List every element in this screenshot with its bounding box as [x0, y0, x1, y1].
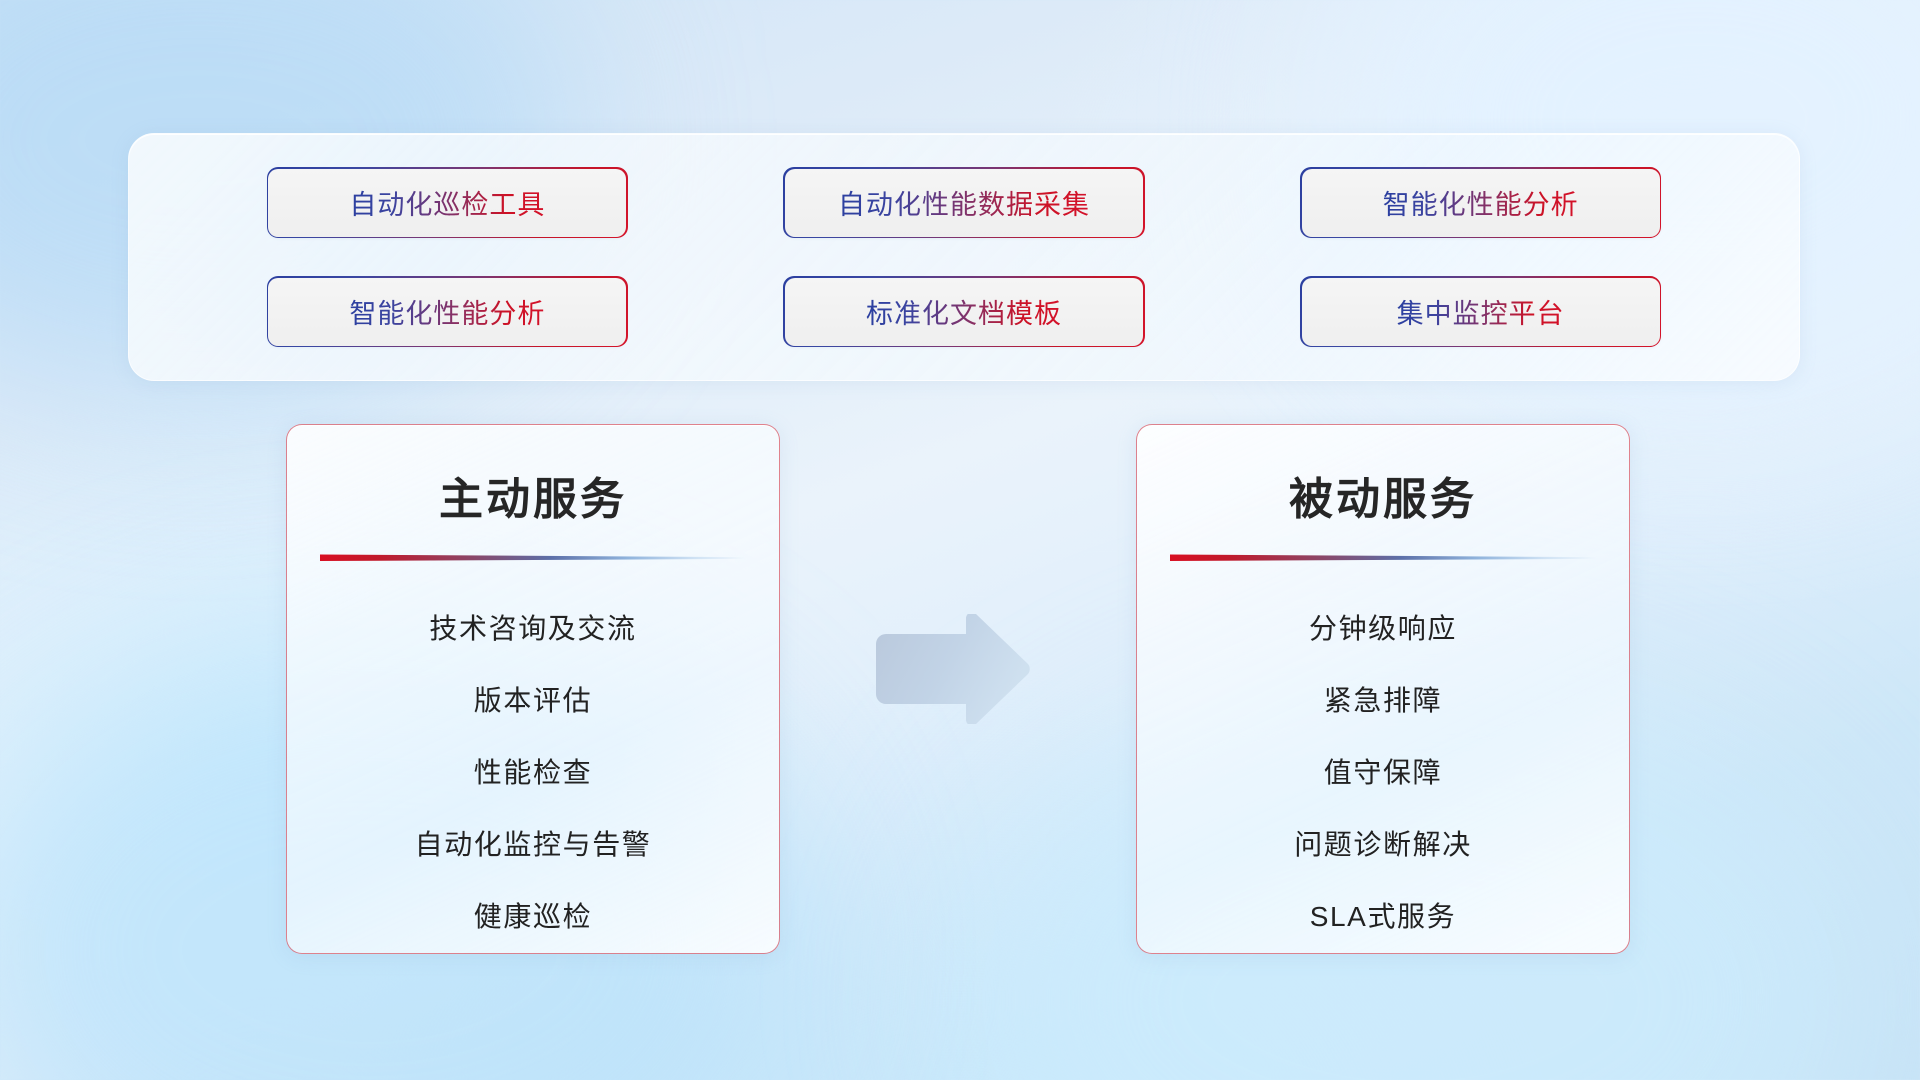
- reactive-service-card: 被动服务 分钟级响应 紧急排障 值守保障 问题诊断解决 SLA式服务: [1136, 424, 1630, 954]
- chip-label: 标准化文档模板: [866, 292, 1062, 331]
- card-title: 被动服务: [1289, 463, 1477, 527]
- chip-intelligent-performance-analysis-2[interactable]: 智能化性能分析: [268, 278, 626, 346]
- title-divider: [320, 553, 746, 561]
- service-item-list: 分钟级响应 紧急排障 值守保障 问题诊断解决 SLA式服务: [1171, 593, 1595, 953]
- title-divider: [1170, 553, 1596, 561]
- list-item: 性能检查: [474, 737, 592, 809]
- chip-label: 智能化性能分析: [1383, 183, 1579, 222]
- list-item: 分钟级响应: [1309, 593, 1457, 665]
- capability-panel: 自动化巡检工具 自动化性能数据采集 智能化性能分析 智能化性能分析 标准化文档模…: [128, 133, 1800, 381]
- flow-arrow: [872, 614, 1032, 724]
- chip-auto-inspection-tool[interactable]: 自动化巡检工具: [268, 169, 626, 237]
- list-item: 问题诊断解决: [1294, 809, 1472, 881]
- service-item-list: 技术咨询及交流 版本评估 性能检查 自动化监控与告警 健康巡检: [321, 593, 745, 953]
- arrow-right-icon: [872, 614, 1032, 724]
- chip-label: 集中监控平台: [1397, 292, 1565, 331]
- chip-centralized-monitoring-platform[interactable]: 集中监控平台: [1302, 278, 1660, 346]
- list-item: 自动化监控与告警: [415, 809, 652, 881]
- list-item: 技术咨询及交流: [429, 593, 636, 665]
- proactive-service-card: 主动服务 技术咨询及交流 版本评估 性能检查 自动化监控与告警 健康巡检: [286, 424, 780, 954]
- chip-label: 自动化性能数据采集: [838, 183, 1090, 222]
- chip-auto-performance-data-collection[interactable]: 自动化性能数据采集: [785, 169, 1143, 237]
- list-item: SLA式服务: [1310, 881, 1457, 953]
- list-item: 紧急排障: [1324, 665, 1442, 737]
- chip-standardized-document-template[interactable]: 标准化文档模板: [785, 278, 1143, 346]
- list-item: 健康巡检: [474, 881, 592, 953]
- capability-chip-grid: 自动化巡检工具 自动化性能数据采集 智能化性能分析 智能化性能分析 标准化文档模…: [129, 134, 1799, 380]
- chip-label: 智能化性能分析: [349, 292, 545, 331]
- chip-intelligent-performance-analysis-1[interactable]: 智能化性能分析: [1302, 169, 1660, 237]
- chip-label: 自动化巡检工具: [349, 183, 545, 222]
- list-item: 值守保障: [1324, 737, 1442, 809]
- card-title: 主动服务: [439, 463, 627, 527]
- list-item: 版本评估: [474, 665, 592, 737]
